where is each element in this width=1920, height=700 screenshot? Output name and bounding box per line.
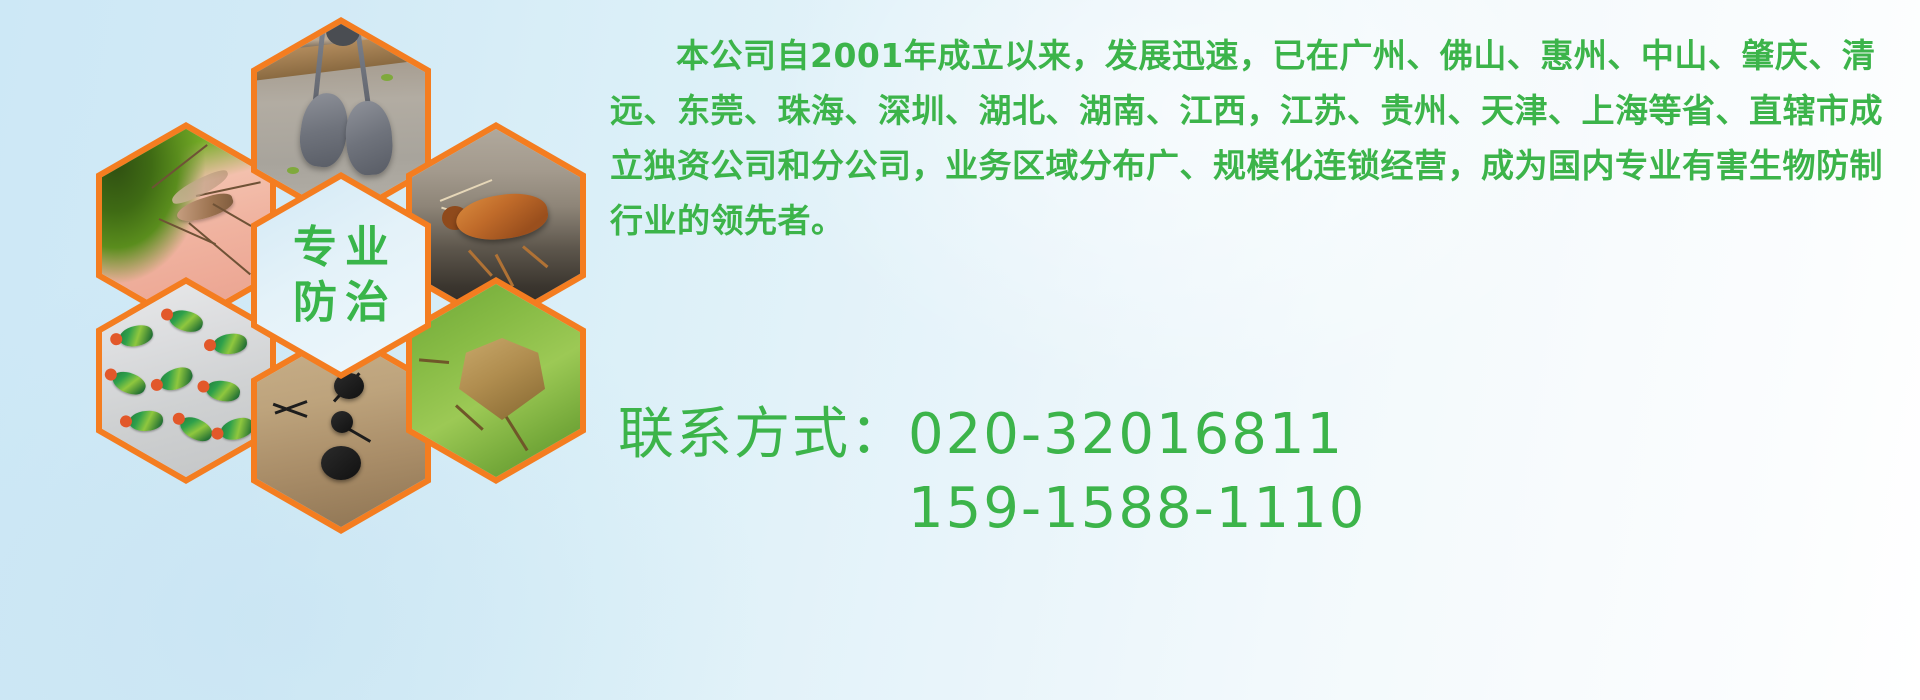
honeycomb-image-cluster: 专业 防治 (96, 0, 616, 572)
flies-photo (102, 284, 270, 477)
hex-inner-flies (102, 284, 270, 477)
contact-line-secondary[interactable]: 159-1588-1110 (618, 472, 1898, 546)
hex-inner-slogan: 专业 防治 (257, 179, 425, 372)
stinkbug-photo (412, 284, 580, 477)
hex-inner-stinkbug (412, 284, 580, 477)
slogan-line-1: 专业 (285, 225, 397, 271)
copy-column: 本公司自2001年成立以来，发展迅速，已在广州、佛山、惠州、中山、肇庆、清远、东… (610, 28, 1890, 248)
contact-block: 联系方式：020-32016811 159-1588-1110 (618, 398, 1898, 546)
hex-cell-stinkbug (406, 277, 586, 484)
hex-cell-flies (96, 277, 276, 484)
promo-banner: 专业 防治 本公司自2001年成立以来，发展迅速，已在广州、佛山、惠州、中山、肇… (0, 0, 1920, 700)
company-description-paragraph: 本公司自2001年成立以来，发展迅速，已在广州、佛山、惠州、中山、肇庆、清远、东… (610, 28, 1890, 248)
slogan-line-2: 防治 (285, 280, 397, 326)
contact-line-primary[interactable]: 联系方式：020-32016811 (618, 398, 1898, 472)
hex-cell-slogan: 专业 防治 (251, 172, 431, 379)
